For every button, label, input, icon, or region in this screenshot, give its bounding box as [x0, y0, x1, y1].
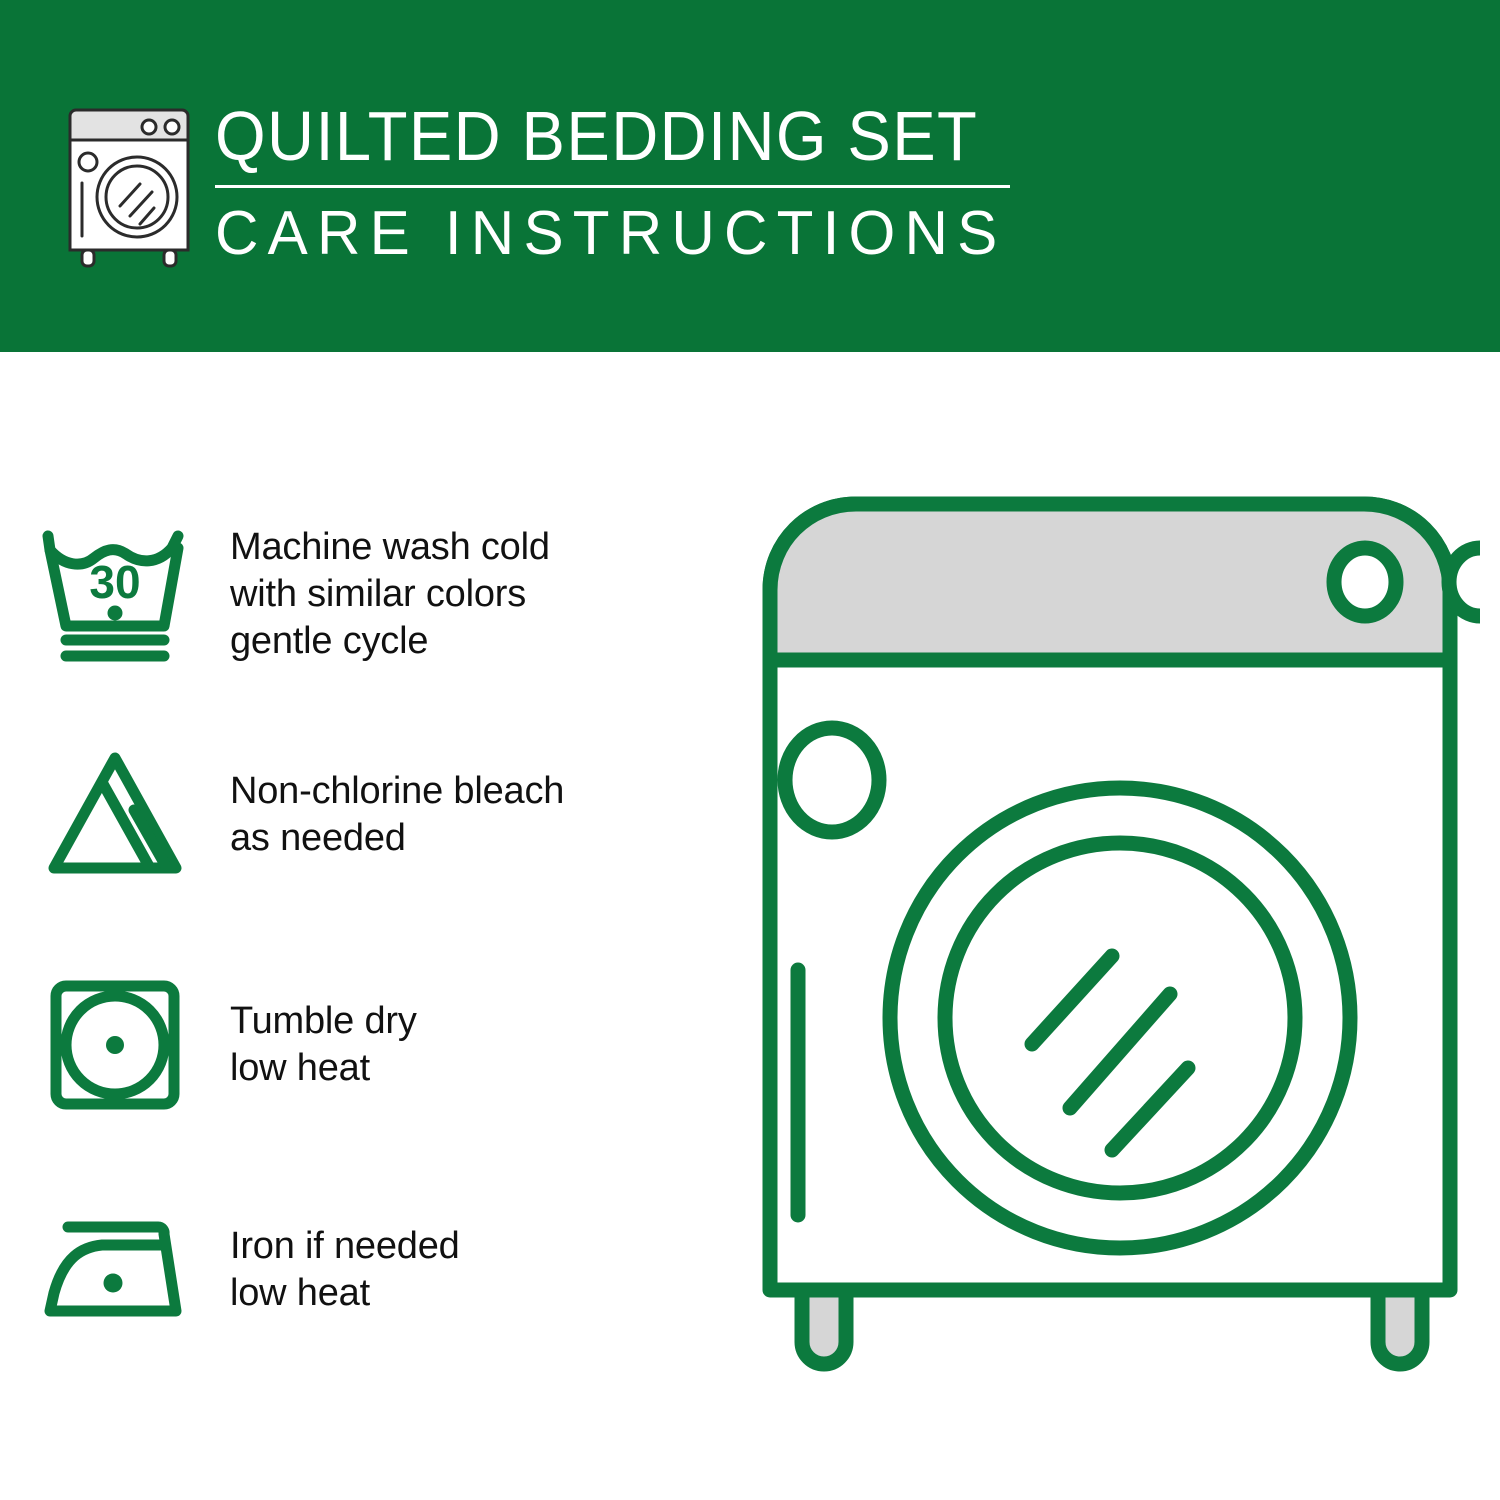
wash-tub-30-icon: 30	[0, 520, 230, 670]
non-chlorine-bleach-triangle-icon	[0, 740, 230, 890]
care-row-machine-wash: 30 Machine wash cold with similar colors…	[0, 502, 730, 687]
care-row-tumble-dry: Tumble dry low heat	[0, 952, 730, 1137]
care-row-bleach: Non-chlorine bleach as needed	[0, 722, 730, 907]
care-row-iron: Iron if needed low heat	[0, 1182, 730, 1357]
machine-knob-right	[1449, 548, 1480, 616]
care-text-machine-wash: Machine wash cold with similar colors ge…	[230, 524, 550, 665]
page-subtitle: CARE INSTRUCTIONS	[215, 198, 991, 270]
care-text-iron: Iron if needed low heat	[230, 1223, 460, 1317]
care-text-tumble-dry: Tumble dry low heat	[230, 998, 417, 1092]
machine-leg-left	[802, 1290, 846, 1364]
care-instruction-list: 30 Machine wash cold with similar colors…	[0, 352, 730, 1500]
page-title: QUILTED BEDDING SET	[215, 96, 959, 176]
title-divider	[215, 185, 1010, 188]
care-instructions-page: QUILTED BEDDING SET CARE INSTRUCTIONS	[0, 0, 1500, 1500]
machine-indicator-light	[785, 728, 879, 832]
tumble-dry-low-icon	[0, 970, 230, 1120]
washing-machine-icon	[62, 100, 207, 270]
wash-temperature-value: 30	[89, 556, 140, 608]
iron-low-heat-icon	[0, 1195, 230, 1345]
header-text-block: QUILTED BEDDING SET CARE INSTRUCTIONS	[215, 96, 1015, 270]
care-text-bleach: Non-chlorine bleach as needed	[230, 768, 564, 862]
machine-leg-right	[1378, 1290, 1422, 1364]
header-banner: QUILTED BEDDING SET CARE INSTRUCTIONS	[0, 0, 1500, 352]
machine-knob-left	[1334, 548, 1396, 616]
front-load-washing-machine-illustration	[740, 470, 1480, 1420]
